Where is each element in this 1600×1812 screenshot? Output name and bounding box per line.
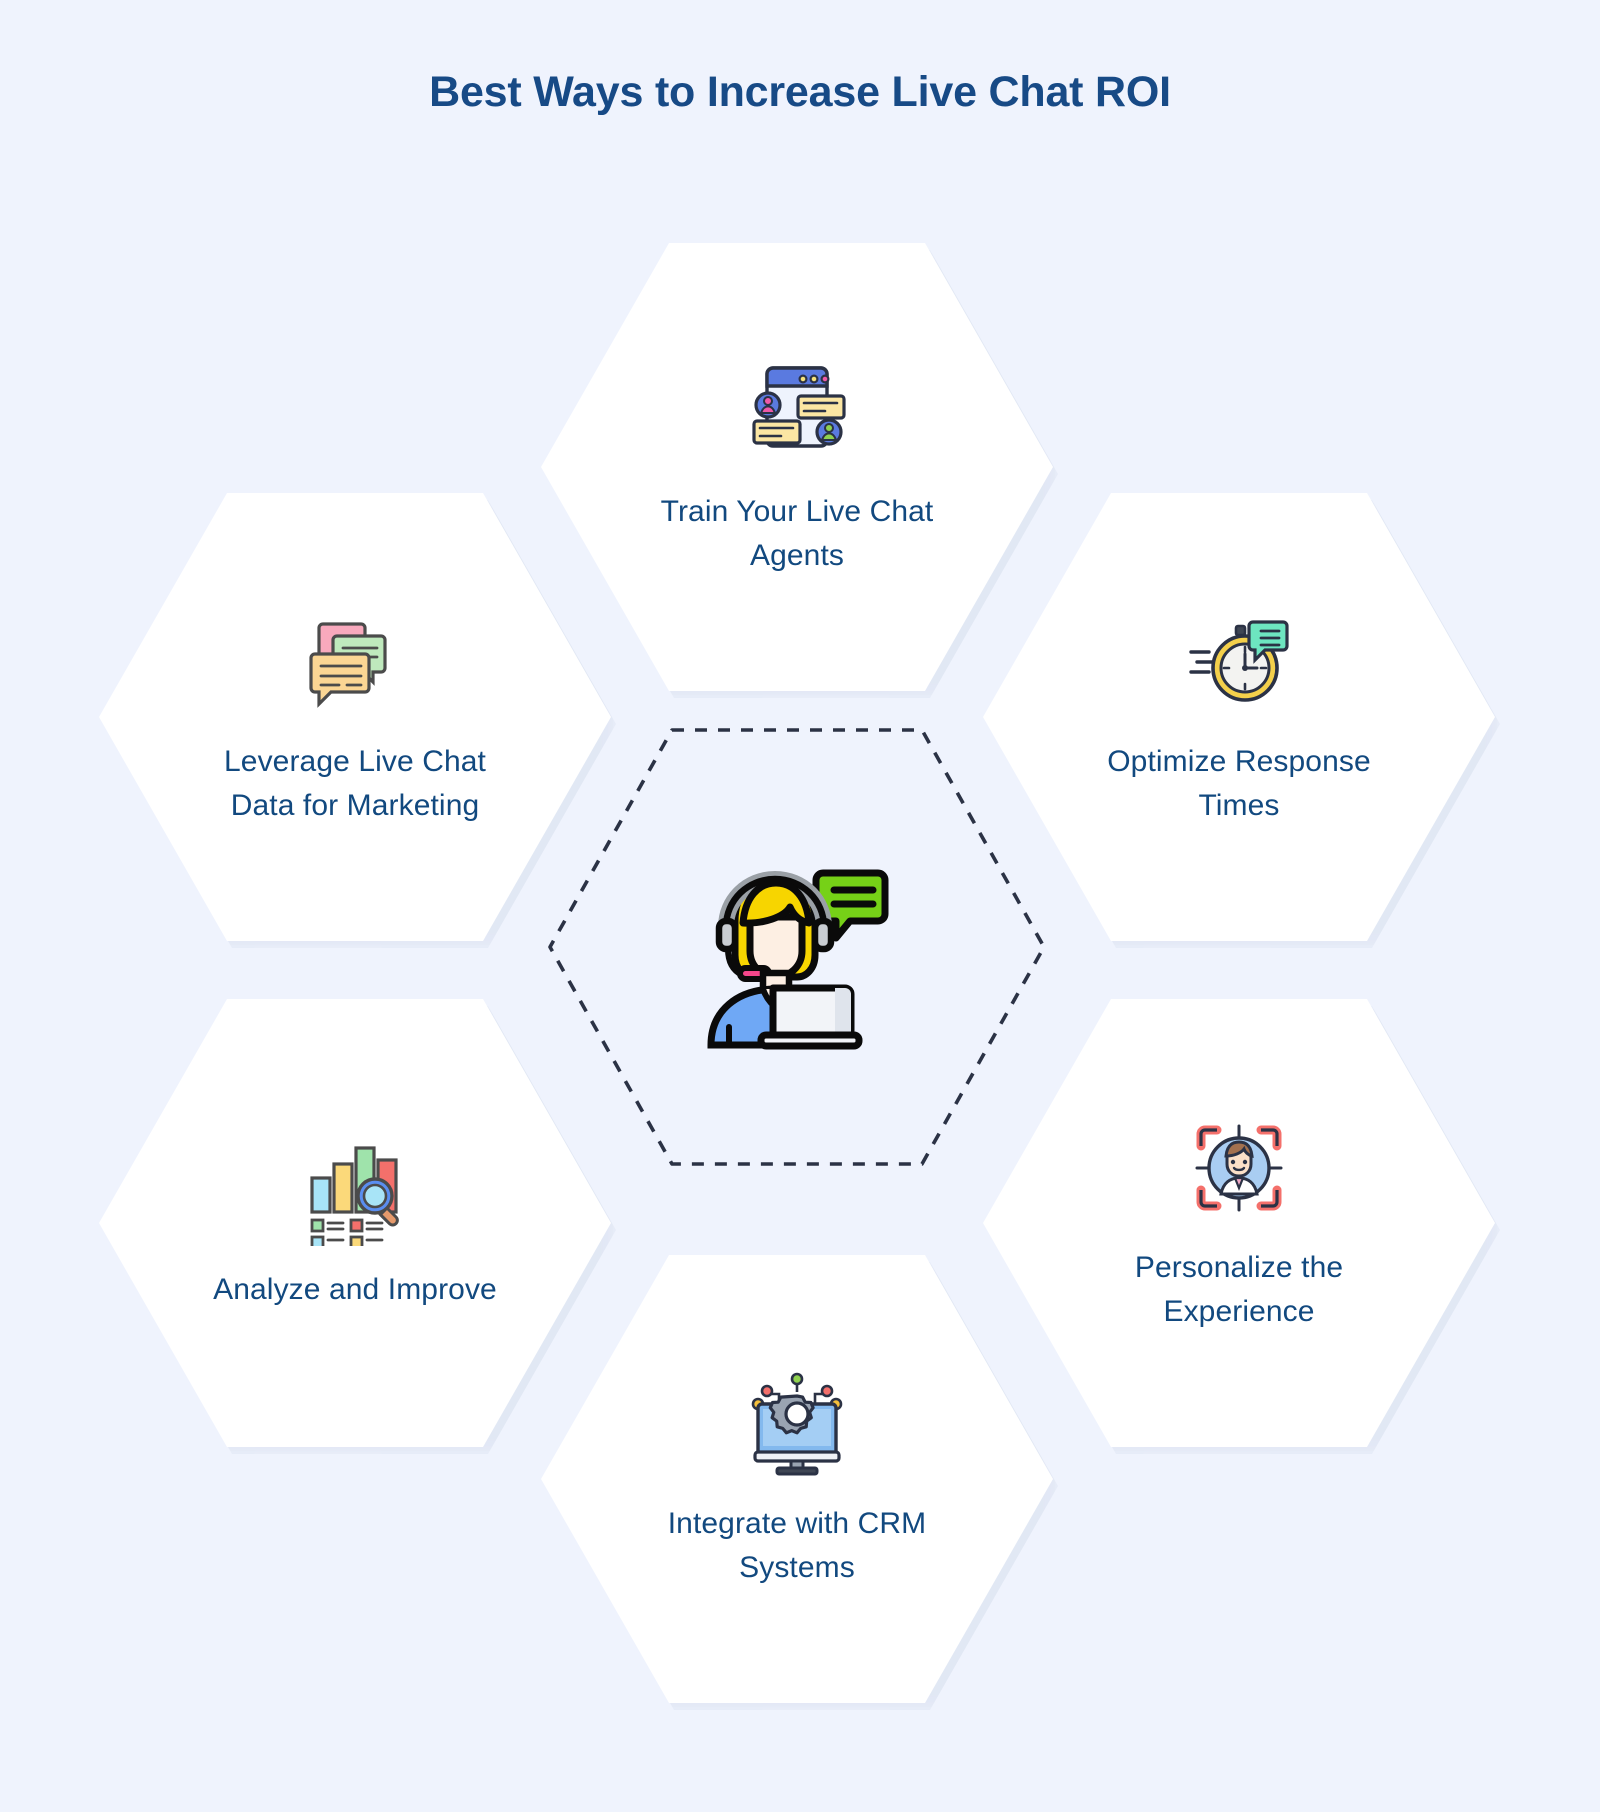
hex-label: Train Your Live Chat Agents <box>632 490 962 579</box>
hex-node-integrate-crm[interactable]: Integrate with CRM Systems <box>541 1255 1053 1703</box>
chat-window-agents-icon <box>741 356 853 468</box>
hex-node-center <box>547 727 1047 1167</box>
hex-node-analyze-improve[interactable]: Analyze and Improve <box>99 999 611 1447</box>
infographic-stage: Best Ways to Increase Live Chat ROI <box>0 0 1600 1812</box>
hex-node-optimize-response[interactable]: Optimize Response Times <box>983 493 1495 941</box>
hex-label: Leverage Live Chat Data for Marketing <box>190 740 520 829</box>
hex-label: Integrate with CRM Systems <box>632 1502 962 1591</box>
bar-chart-magnifier-icon <box>299 1134 411 1246</box>
hex-label: Analyze and Improve <box>213 1268 497 1312</box>
user-target-focus-icon <box>1183 1112 1295 1224</box>
hex-label: Personalize the Experience <box>1074 1246 1404 1335</box>
hex-node-personalize-experience[interactable]: Personalize the Experience <box>983 999 1495 1447</box>
stopwatch-speed-icon <box>1183 606 1295 718</box>
hex-label: Optimize Response Times <box>1074 740 1404 829</box>
page-title: Best Ways to Increase Live Chat ROI <box>0 68 1600 117</box>
monitor-gear-network-icon <box>741 1368 853 1480</box>
hex-node-train-agents[interactable]: Train Your Live Chat Agents <box>541 243 1053 691</box>
hex-node-leverage-data[interactable]: Leverage Live Chat Data for Marketing <box>99 493 611 941</box>
support-agent-headset-icon <box>695 845 900 1050</box>
stacked-chat-bubbles-icon <box>299 606 411 718</box>
